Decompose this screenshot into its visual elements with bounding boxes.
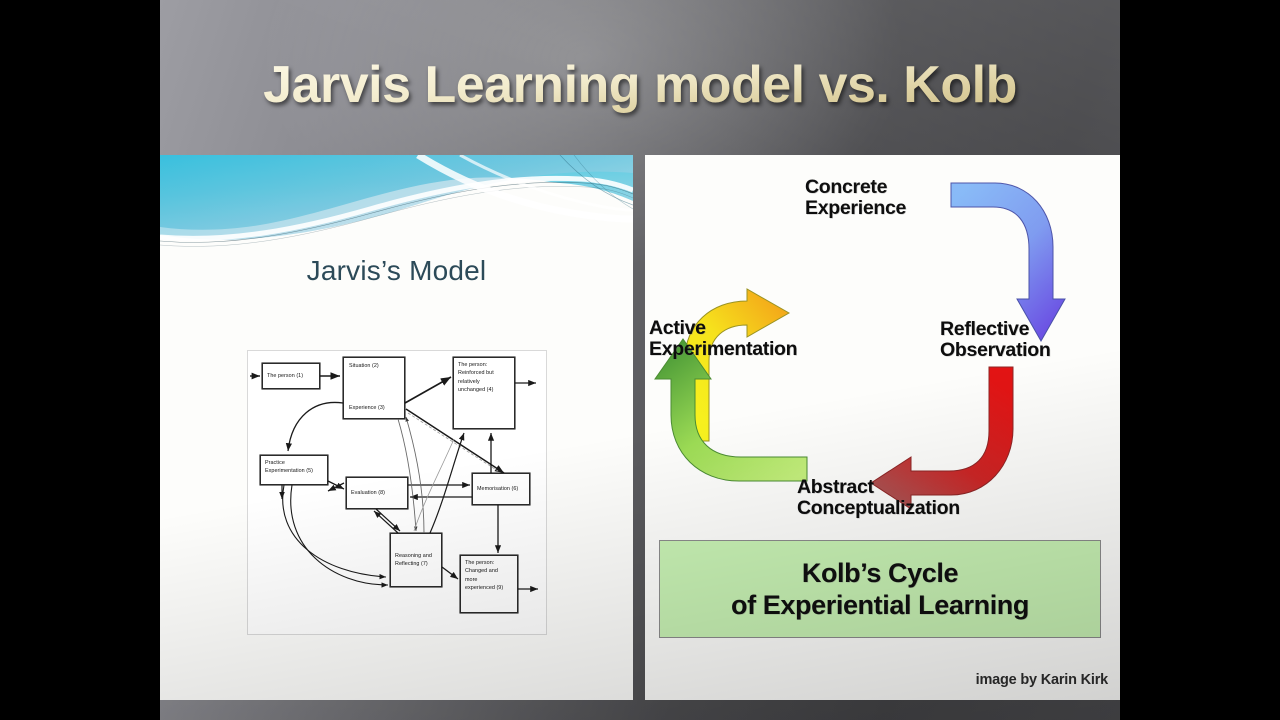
kolb-caption-box: Kolb’s Cycle of Experiential Learning: [659, 540, 1101, 638]
kolb-cycle-graphic: Concrete Experience Reflective Observati…: [645, 155, 1120, 700]
page-title: Jarvis Learning model vs. Kolb: [160, 58, 1120, 113]
slide-stage: Jarvis Learning model vs. Kolb: [0, 0, 1280, 720]
label-concrete-line1: Concrete: [805, 177, 906, 198]
kolb-caption-line2: of Experiential Learning: [731, 590, 1029, 620]
kolb-caption-line1: Kolb’s Cycle: [802, 558, 958, 588]
label-concrete-experience: Concrete Experience: [805, 177, 906, 220]
jarvis-model-panel: Jarvis’s Model: [160, 155, 633, 700]
label-reflective-line2: Observation: [940, 340, 1050, 361]
jarvis-box-2-3: Situation (2) Experience (3): [343, 357, 405, 419]
presentation-slide: Jarvis Learning model vs. Kolb: [160, 0, 1120, 720]
jarvis-box-4: The person: Reinforced but relatively un…: [453, 357, 515, 429]
label-active-line2: Experimentation: [649, 339, 797, 360]
label-abstract-line2: Conceptualization: [797, 498, 960, 519]
jarvis-box-3-label: Experience (3): [344, 400, 404, 418]
jarvis-box-2-label: Situation (2): [344, 358, 404, 374]
jarvis-box-8: Evaluation (8): [346, 477, 408, 509]
label-active-experimentation: Active Experimentation: [649, 318, 797, 361]
jarvis-flow-diagram: The person (1) Situation (2) Experience …: [247, 350, 547, 635]
wave-header-graphic: [160, 155, 633, 250]
label-abstract-line1: Abstract: [797, 477, 960, 498]
jarvis-box-5: Practice Experimentation (5): [260, 455, 328, 485]
jarvis-box-9: The person: Changed and more experienced…: [460, 555, 518, 613]
kolb-cycle-panel: Concrete Experience Reflective Observati…: [645, 155, 1120, 700]
label-reflective-observation: Reflective Observation: [940, 319, 1050, 362]
image-credit: image by Karin Kirk: [976, 672, 1108, 688]
jarvis-model-heading: Jarvis’s Model: [160, 255, 633, 287]
label-abstract-conceptualization: Abstract Conceptualization: [797, 477, 960, 520]
label-active-line1: Active: [649, 318, 797, 339]
jarvis-box-1: The person (1): [262, 363, 320, 389]
jarvis-box-7: Reasoning and Reflecting (7): [390, 533, 442, 587]
label-reflective-line1: Reflective: [940, 319, 1050, 340]
label-concrete-line2: Experience: [805, 198, 906, 219]
jarvis-box-6: Memorisation (6): [472, 473, 530, 505]
wave-svg: [160, 155, 633, 250]
